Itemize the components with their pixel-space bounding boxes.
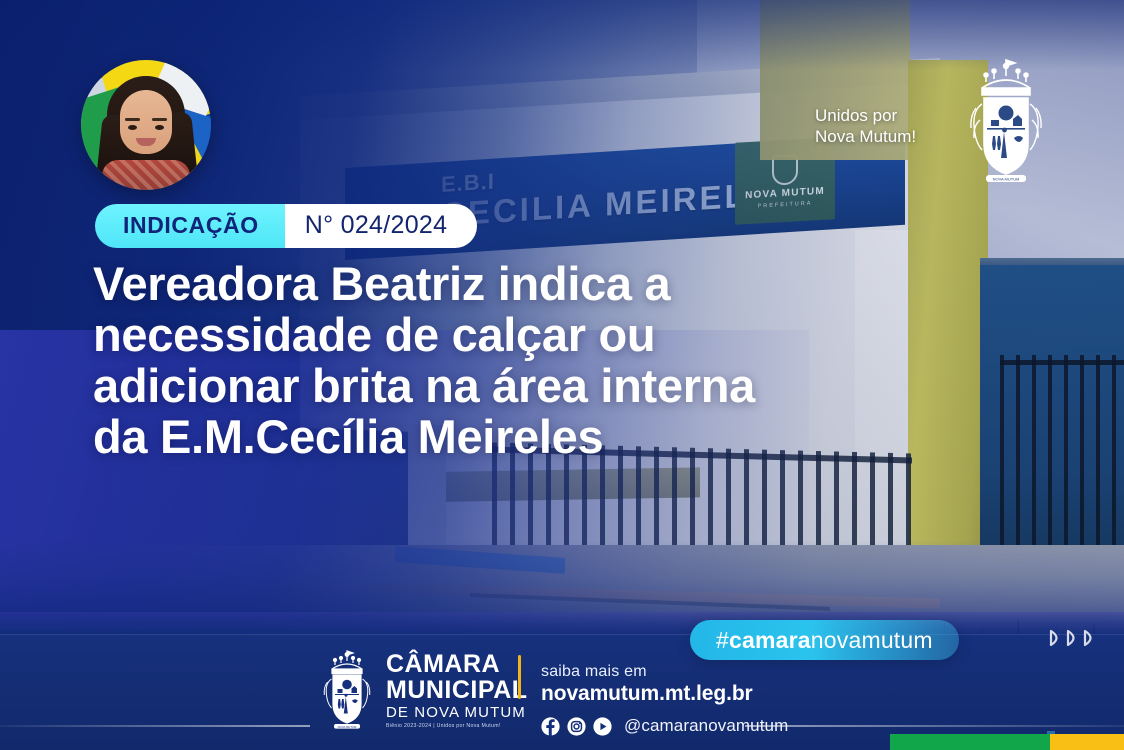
avatar-eye-right [155,125,164,130]
footer-divider-right [745,725,1124,727]
slogan: Unidos por Nova Mutum! [815,105,945,147]
bar-yellow [1050,734,1124,750]
avatar-brow-right [152,118,167,121]
avatar [81,60,211,190]
badge-number[interactable]: N° 024/2024 [285,204,478,248]
headline: Vereadora Beatriz indica a necessidade d… [93,258,773,462]
hashtag-badge[interactable]: #camaranovamutum [690,620,959,660]
svg-text:NOVA MUTUM: NOVA MUTUM [993,177,1020,182]
facebook-icon[interactable] [541,717,560,736]
camara-logo-text: CÂMARA MUNICIPAL DE NOVA MUTUM Biênio 20… [386,652,528,729]
camara-logo: NOVA MUTUM CÂMARA MUNICIPAL DE NOVA MUTU… [318,650,528,732]
footer-contact: saiba mais em novamutum.mt.leg.br @camar… [541,663,788,736]
hashtag-light: novamutum [811,627,933,654]
logo-line-2: MUNICIPAL [386,678,528,703]
coat-of-arms-icon: NOVA MUTUM [960,58,1052,188]
hashtag-symbol: # [716,627,729,654]
contact-label: saiba mais em [541,663,788,681]
slogan-line-1: Unidos por [815,105,945,126]
avatar-face [120,90,172,154]
badge-type[interactable]: INDICAÇÃO [95,204,285,248]
avatar-clothing [102,160,190,190]
badge-group: INDICAÇÃO N° 024/2024 [95,204,477,248]
avatar-eye-left [128,125,137,130]
instagram-icon[interactable] [567,717,586,736]
chevron-group-icon [1048,628,1104,648]
camara-coat-of-arms-svg: NOVA MUTUM [318,650,376,732]
logo-line-3: DE NOVA MUTUM [386,705,528,720]
chevrons-right-icon [1048,628,1104,648]
bar-green [890,734,1050,750]
youtube-icon[interactable] [593,717,612,736]
contact-website[interactable]: novamutum.mt.leg.br [541,682,788,706]
logo-line-4: Biênio 2023-2024 | Unidos por Nova Mutum… [386,724,528,729]
social-handle[interactable]: @camaranovamutum [624,716,788,736]
slogan-line-2: Nova Mutum! [815,126,945,147]
logo-line-1: CÂMARA [386,652,528,677]
avatar-mouth [136,138,156,146]
camara-coat-of-arms-icon: NOVA MUTUM [318,650,376,732]
social-media-card: E.B.I CECILIA MEIRELES NOVA MUTUM PREFEI… [0,0,1124,750]
footer-divider-left [0,725,310,727]
avatar-brow-left [125,118,140,121]
coat-of-arms-svg: NOVA MUTUM [960,58,1052,188]
hashtag-bold: camara [729,627,811,654]
social-links: @camaranovamutum [541,716,788,736]
svg-text:NOVA MUTUM: NOVA MUTUM [338,725,357,729]
footer-vertical-divider [518,655,521,699]
